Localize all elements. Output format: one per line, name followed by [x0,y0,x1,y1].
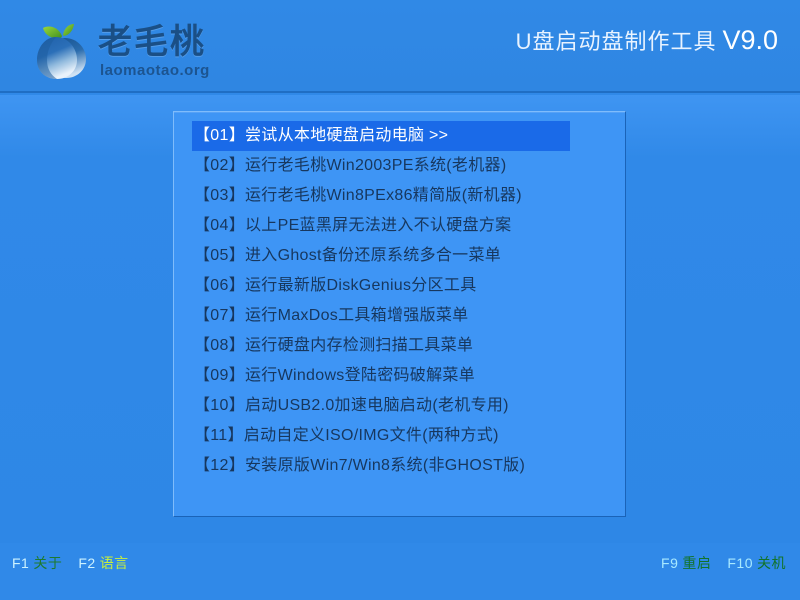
peach-logo-icon [32,22,92,82]
boot-menu-item-label: 【02】运行老毛桃Win2003PE系统(老机器) [194,157,506,174]
boot-menu-item[interactable]: 【05】进入Ghost备份还原系统多合一菜单 [174,241,625,271]
footer-right-shortcuts: F9重启F10关机 [661,553,786,573]
footer-left-shortcuts: F1关于F2语言 [12,553,129,573]
shortcut-action-restart[interactable]: 重启 [682,555,727,571]
boot-menu-item[interactable]: 【02】运行老毛桃Win2003PE系统(老机器) [174,151,625,181]
boot-menu-item-label: 【03】运行老毛桃Win8PEx86精简版(新机器) [194,187,522,204]
boot-menu-item-label: 【06】运行最新版DiskGenius分区工具 [194,277,477,294]
shortcut-action-shutdown[interactable]: 关机 [757,555,786,571]
boot-menu-item-label: 【01】尝试从本地硬盘启动电脑 >> [194,127,448,144]
boot-menu-item[interactable]: 【09】运行Windows登陆密码破解菜单 [174,361,625,391]
boot-menu-item-label: 【08】运行硬盘内存检测扫描工具菜单 [194,337,473,354]
boot-menu-item[interactable]: 【11】启动自定义ISO/IMG文件(两种方式) [174,421,625,451]
boot-menu-item[interactable]: 【01】尝试从本地硬盘启动电脑 >> [192,121,570,151]
boot-menu-item[interactable]: 【07】运行MaxDos工具箱增强版菜单 [174,301,625,331]
shortcut-action-language[interactable]: 语言 [100,555,129,571]
app-title-text: U盘启动盘制作工具 [516,29,717,54]
logo-url: laomaotao.org [100,62,210,80]
shortcut-key-f9: F9 [661,555,682,571]
boot-menu-item[interactable]: 【04】以上PE蓝黑屏无法进入不认硬盘方案 [174,211,625,241]
shortcut-action-about[interactable]: 关于 [33,555,78,571]
shortcut-key-f10: F10 [727,555,757,571]
boot-menu-item[interactable]: 【08】运行硬盘内存检测扫描工具菜单 [174,331,625,361]
boot-menu-item-label: 【09】运行Windows登陆密码破解菜单 [194,367,475,384]
shortcut-key-f1: F1 [12,555,33,571]
logo-wordmark: 老毛桃 [98,22,206,62]
app-version: V9.0 [716,25,778,55]
boot-menu-item-label: 【04】以上PE蓝黑屏无法进入不认硬盘方案 [194,217,511,234]
boot-menu-item[interactable]: 【12】安装原版Win7/Win8系统(非GHOST版) [174,451,625,481]
boot-menu-screen: 老毛桃 laomaotao.org U盘启动盘制作工具V9.0 【01】尝试从本… [0,0,800,600]
boot-menu-item[interactable]: 【10】启动USB2.0加速电脑启动(老机专用) [174,391,625,421]
header-bar: 老毛桃 laomaotao.org U盘启动盘制作工具V9.0 [0,0,800,93]
footer-bar: F1关于F2语言 F9重启F10关机 [0,543,800,600]
boot-menu-item-label: 【10】启动USB2.0加速电脑启动(老机专用) [194,397,509,414]
app-title: U盘启动盘制作工具V9.0 [516,24,778,56]
boot-menu-item-label: 【05】进入Ghost备份还原系统多合一菜单 [194,247,501,264]
boot-menu-panel: 【01】尝试从本地硬盘启动电脑 >>【02】运行老毛桃Win2003PE系统(老… [173,111,626,517]
boot-menu-item-label: 【11】启动自定义ISO/IMG文件(两种方式) [194,427,499,444]
shortcut-key-f2: F2 [78,555,99,571]
brand-logo: 老毛桃 laomaotao.org [26,10,241,85]
boot-menu-item-label: 【07】运行MaxDos工具箱增强版菜单 [194,307,468,324]
boot-menu-item-label: 【12】安装原版Win7/Win8系统(非GHOST版) [194,457,525,474]
boot-menu-item[interactable]: 【03】运行老毛桃Win8PEx86精简版(新机器) [174,181,625,211]
boot-menu-item[interactable]: 【06】运行最新版DiskGenius分区工具 [174,271,625,301]
